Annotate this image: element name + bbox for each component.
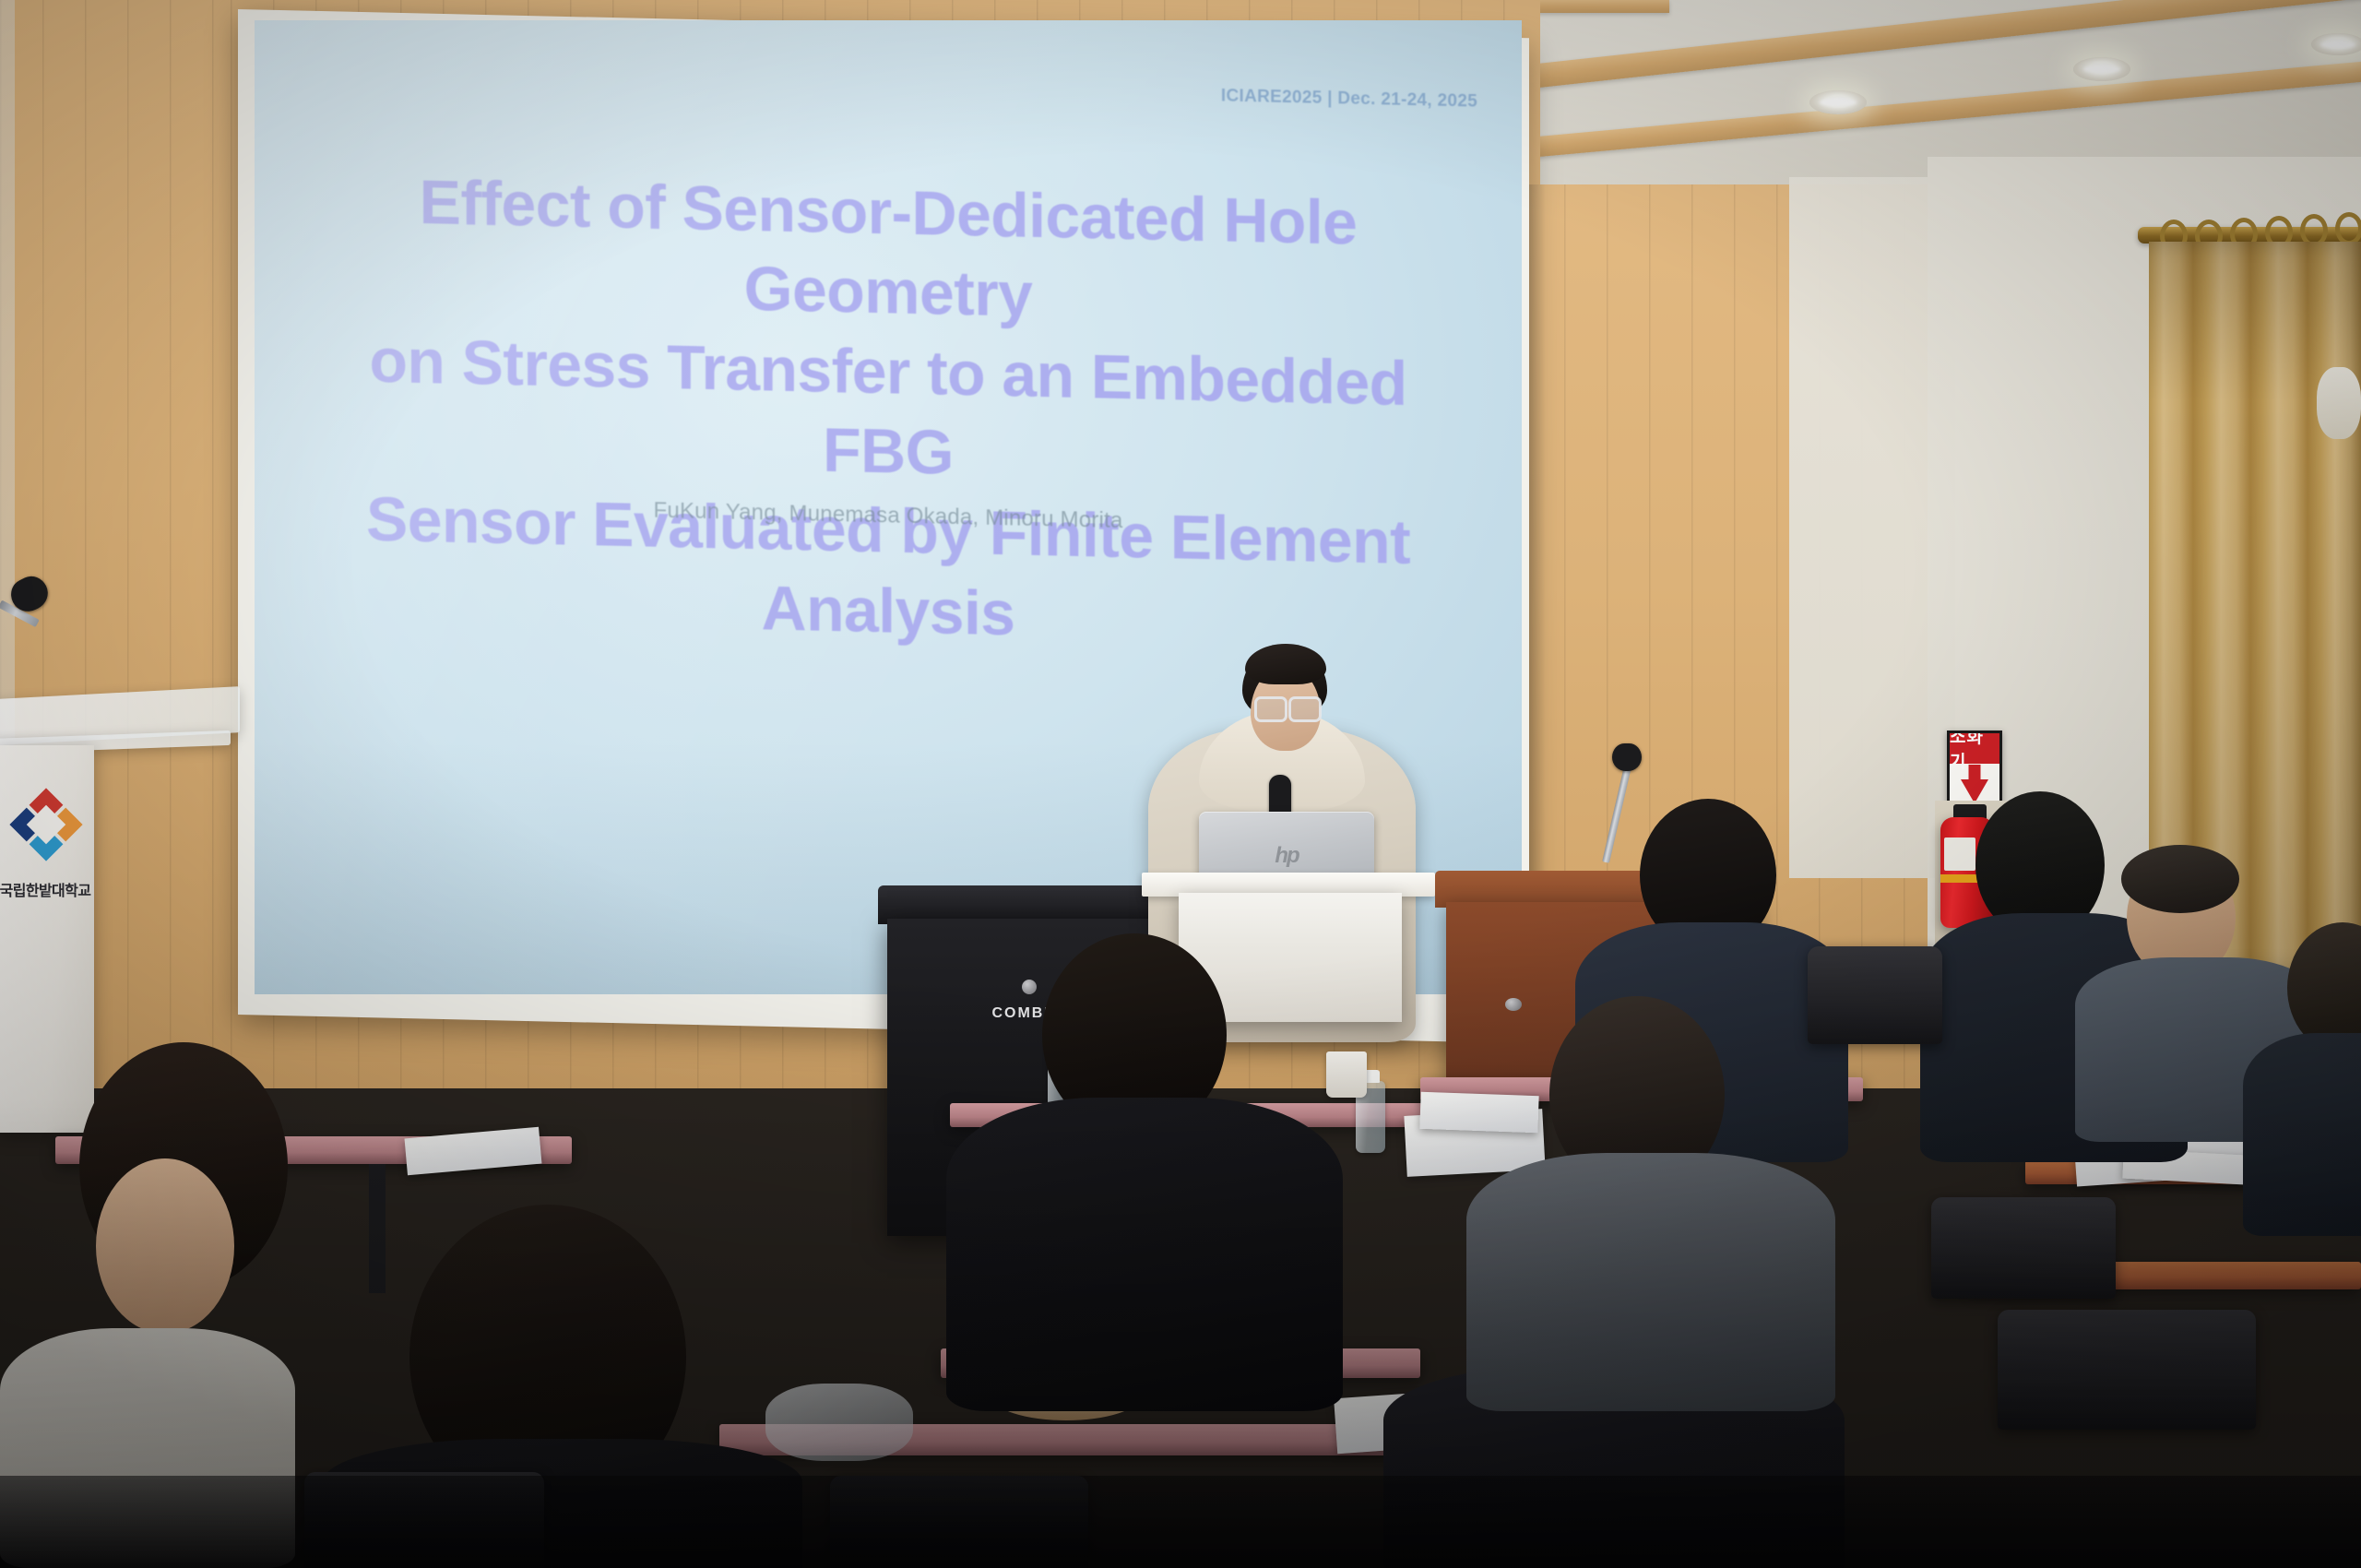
slide-title-line-2: on Stress Transfer to an Embedded FBG bbox=[308, 319, 1468, 505]
chair-right-near bbox=[1998, 1310, 2256, 1430]
sign-down-arrow-icon bbox=[1961, 779, 1988, 802]
slide-title-line-1: Effect of Sensor-Dedicated Hole Geometry bbox=[308, 160, 1468, 345]
desk-leg-front-left bbox=[369, 1164, 386, 1293]
presenter-glasses-right-lens bbox=[1288, 696, 1322, 722]
ceiling-downlight-2 bbox=[2073, 57, 2130, 81]
lecture-hall-photo: ICIARE2025 | Dec. 21-24, 2025 Effect of … bbox=[0, 0, 2361, 1568]
hanbat-university-logo-icon bbox=[9, 788, 82, 861]
plastic-wrap-front bbox=[765, 1384, 913, 1461]
curtain-tassel bbox=[2317, 367, 2361, 439]
coffee-cup-1 bbox=[1326, 1051, 1367, 1098]
audience-member-right-4-torso bbox=[2243, 1033, 2361, 1236]
audience-member-front-left-face bbox=[96, 1158, 234, 1334]
wooden-podium-keyhole-icon bbox=[1505, 998, 1522, 1011]
fire-extinguisher-sign: 소화기 bbox=[1947, 731, 2002, 804]
audience-member-center-torso bbox=[946, 1098, 1343, 1411]
presenter-laptop: hp bbox=[1199, 812, 1374, 881]
ceiling-downlight-1 bbox=[1809, 90, 1867, 114]
av-cabinet-knob-icon bbox=[1022, 980, 1037, 994]
chair-right-mid bbox=[1931, 1197, 2116, 1299]
ceiling-downlight-3 bbox=[2311, 33, 2361, 55]
university-banner: 국립한밭대학교 bbox=[0, 745, 94, 1133]
foreground-shadow-mass bbox=[0, 1476, 2361, 1568]
wall-plaster-panel bbox=[1789, 177, 1955, 878]
chair-right-back bbox=[1808, 946, 1942, 1044]
audience-member-front-4-torso bbox=[1466, 1153, 1835, 1411]
hp-logo-icon: hp bbox=[1275, 843, 1298, 869]
audience-member-right-3-hair bbox=[2121, 845, 2239, 913]
fire-extinguisher-sign-inner: 소화기 bbox=[1950, 733, 1999, 802]
university-banner-text: 국립한밭대학교 bbox=[0, 878, 94, 900]
gooseneck-mic-head bbox=[1612, 743, 1642, 771]
extinguisher-label bbox=[1944, 837, 1975, 871]
slide-header-conference-info: ICIARE2025 | Dec. 21-24, 2025 bbox=[1221, 86, 1477, 112]
curtain-ring-6 bbox=[2335, 212, 2361, 245]
fire-extinguisher-sign-label: 소화기 bbox=[1950, 733, 1999, 764]
papers-mid-right-2 bbox=[1419, 1092, 1538, 1133]
papers-front-left bbox=[405, 1127, 542, 1176]
presenter-glasses bbox=[1254, 696, 1287, 722]
slide-title: Effect of Sensor-Dedicated Hole Geometry… bbox=[308, 160, 1468, 663]
